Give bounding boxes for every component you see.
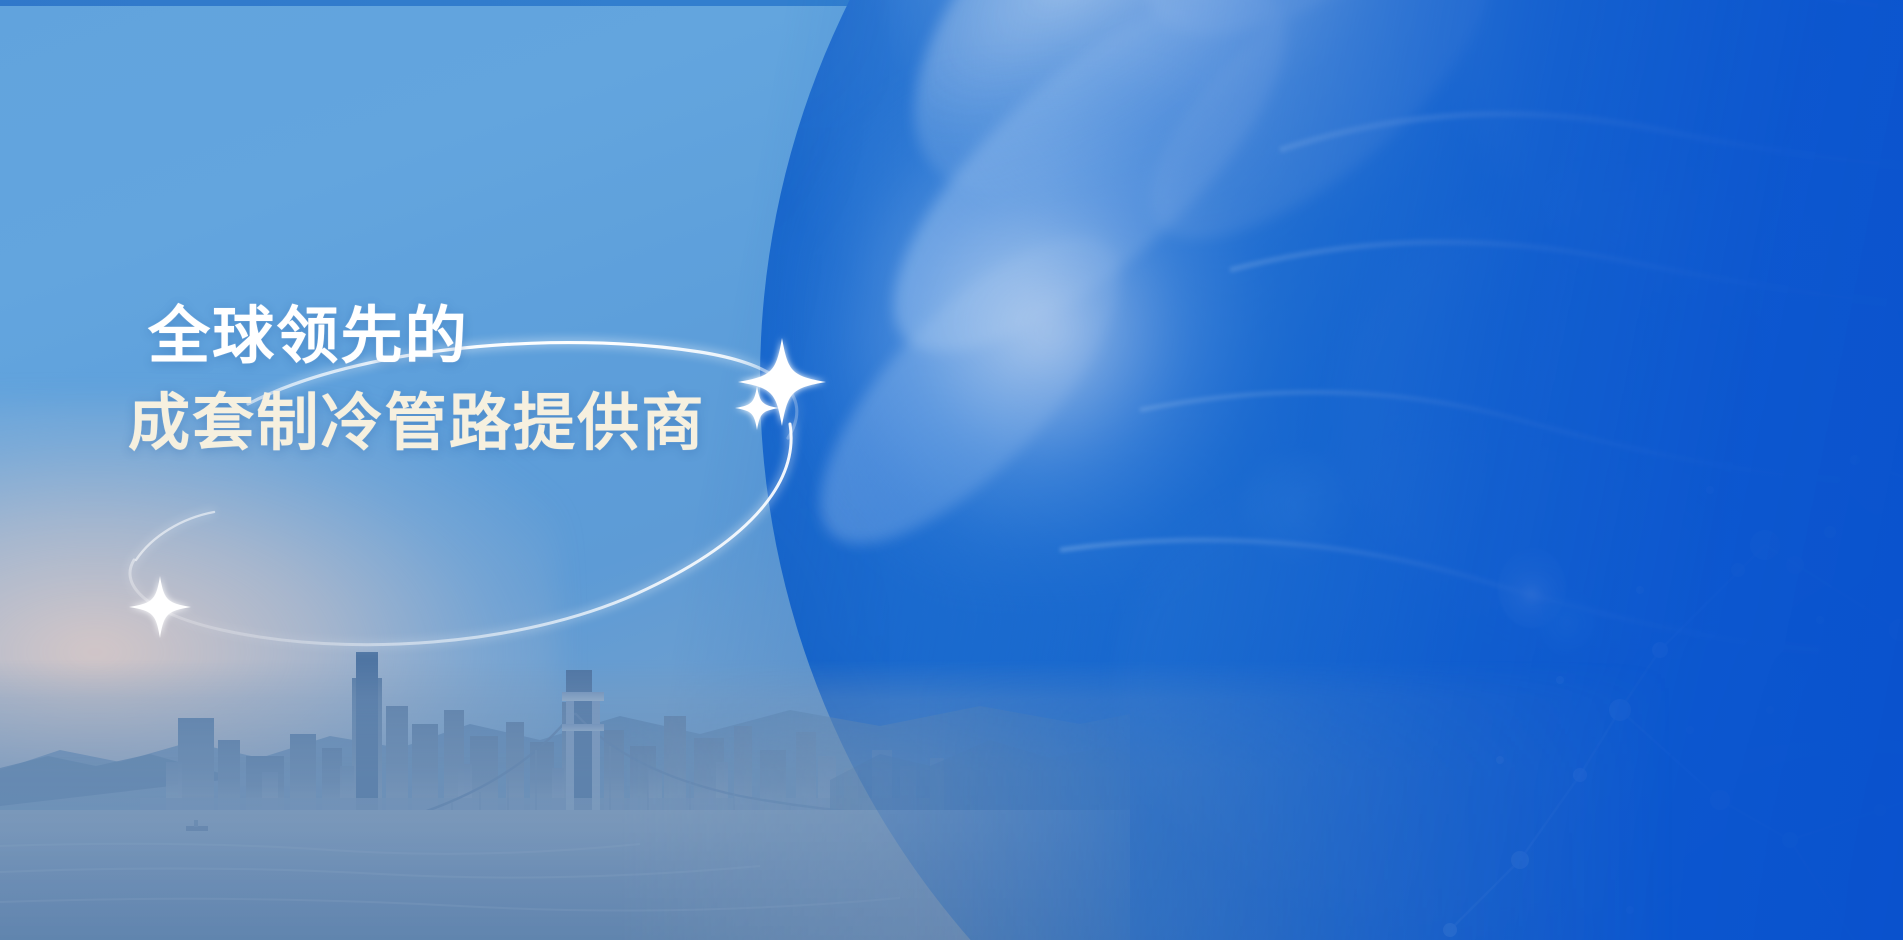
water-tint-overlay [0,660,1903,940]
headline-line-2: 成套制冷管路提供商 [128,387,888,460]
headline-block: 全球领先的 成套制冷管路提供商 [128,300,888,460]
headline-line-1: 全球领先的 [128,300,888,373]
hero-banner: 全球领先的 成套制冷管路提供商 [0,0,1903,940]
